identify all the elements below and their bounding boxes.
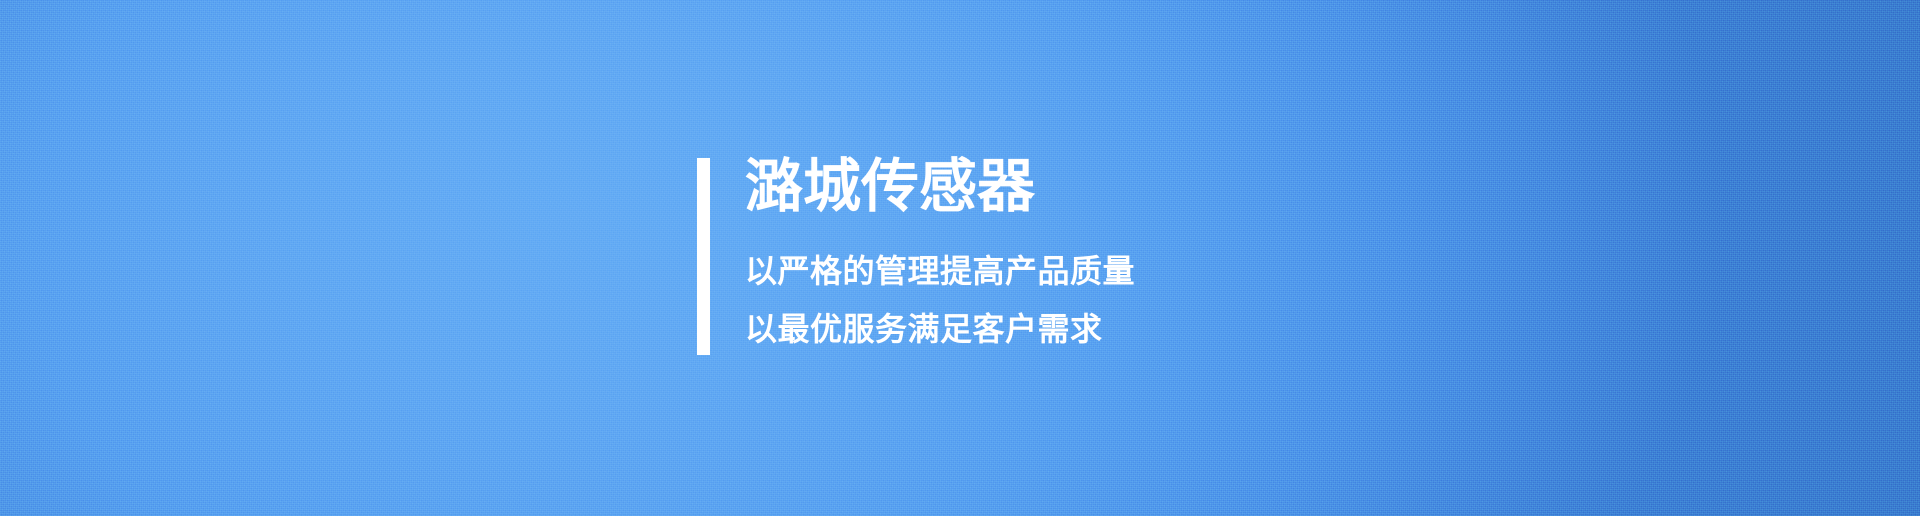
hero-banner: 潞城传感器 以严格的管理提高产品质量 以最优服务满足客户需求 [0, 0, 1920, 516]
banner-text-group: 潞城传感器 以严格的管理提高产品质量 以最优服务满足客户需求 [710, 158, 1135, 355]
accent-bar [697, 158, 710, 355]
banner-subtitle-line-2: 以最优服务满足客户需求 [745, 313, 1135, 345]
page-title: 潞城传感器 [745, 158, 1135, 216]
banner-subtitle-line-1: 以严格的管理提高产品质量 [745, 255, 1135, 287]
banner-headline-block: 潞城传感器 以严格的管理提高产品质量 以最优服务满足客户需求 [697, 158, 1135, 355]
